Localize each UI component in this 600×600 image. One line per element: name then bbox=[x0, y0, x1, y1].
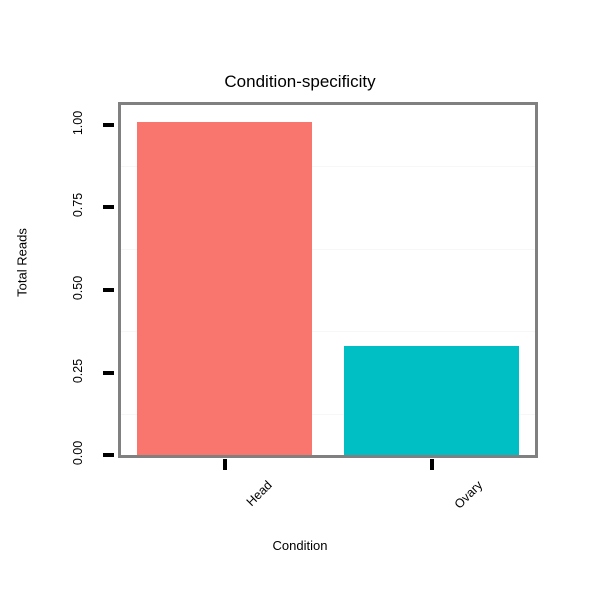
y-tick-label-1: 0.25 bbox=[71, 351, 85, 391]
x-tick-label-1: Ovary bbox=[451, 478, 484, 511]
chart-title: Condition-specificity bbox=[0, 72, 600, 92]
x-tick-mark-0 bbox=[223, 459, 227, 470]
y-tick-label-4: 1.00 bbox=[71, 103, 85, 143]
y-tick-label-2: 0.50 bbox=[71, 268, 85, 308]
x-tick-mark-1 bbox=[430, 459, 434, 470]
x-axis-title: Condition bbox=[0, 538, 600, 553]
bar-ovary[interactable] bbox=[344, 346, 520, 455]
y-axis-title: Total Reads bbox=[15, 53, 30, 473]
y-tick-mark-2 bbox=[103, 288, 114, 292]
y-tick-mark-4 bbox=[103, 123, 114, 127]
y-tick-mark-3 bbox=[103, 205, 114, 209]
y-tick-mark-0 bbox=[103, 453, 114, 457]
x-tick-label-0: Head bbox=[243, 478, 274, 509]
bar-head[interactable] bbox=[137, 122, 313, 456]
chart-figure: Condition-specificity Total Reads 0.000.… bbox=[0, 0, 600, 600]
y-tick-label-3: 0.75 bbox=[71, 185, 85, 225]
y-tick-label-0: 0.00 bbox=[71, 433, 85, 473]
y-tick-mark-1 bbox=[103, 371, 114, 375]
plot-area bbox=[121, 105, 535, 455]
plot-panel bbox=[118, 102, 538, 458]
